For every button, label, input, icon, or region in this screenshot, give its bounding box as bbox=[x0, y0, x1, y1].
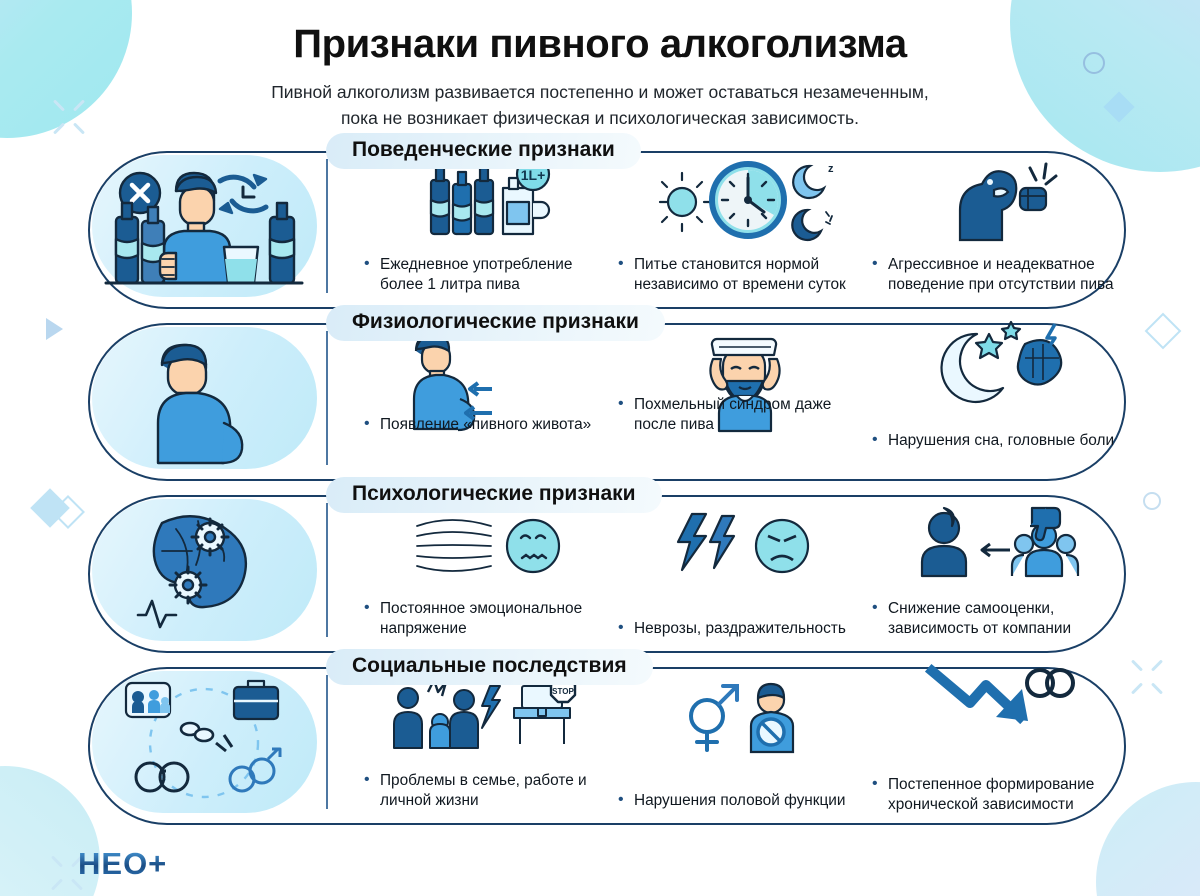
list-item-text: Питье становится нормой независимо от вр… bbox=[618, 255, 862, 294]
section-badge-psychological: Психологические признаки bbox=[326, 477, 662, 513]
list-item: z Питье становится нормой независимо от … bbox=[612, 151, 866, 303]
svg-text:z: z bbox=[828, 163, 834, 175]
moon-stars-brain-icon bbox=[872, 319, 1126, 403]
list-item-text: Нарушения половой функции bbox=[618, 791, 862, 811]
section-illustration-panel bbox=[92, 327, 317, 469]
section-badge-behavioral: Поведенческие признаки bbox=[326, 133, 641, 169]
section-items: Появление «пивного живота» bbox=[358, 323, 1120, 475]
subtitle-line-1: Пивной алкоголизм развивается постепенно… bbox=[0, 79, 1200, 105]
section-items: STOP Проблемы в семье, работе и личной ж… bbox=[358, 667, 1120, 819]
section-badge-physiological: Физиологические признаки bbox=[326, 305, 665, 341]
one-liter-badge-text: 1L+ bbox=[521, 167, 546, 183]
list-item: Неврозы, раздражительность bbox=[612, 495, 866, 647]
sun-clock-moon-icon: z bbox=[618, 157, 872, 241]
subtitle-line-2: пока не возникает физическая и психологи… bbox=[0, 105, 1200, 131]
list-item-text: Постоянное эмоциональное напряжение bbox=[364, 599, 608, 638]
sections-container: Поведенческие признаки bbox=[0, 143, 1200, 825]
list-item: Нарушения сна, головные боли bbox=[866, 323, 1120, 475]
list-item: Похмельный синдром даже после пива bbox=[612, 323, 866, 475]
brain-with-gears-icon bbox=[92, 499, 317, 641]
list-item-text: Агрессивное и неадекватное поведение при… bbox=[872, 255, 1116, 294]
section-divider bbox=[326, 331, 328, 465]
list-item-text: Постепенное формирование хронической зав… bbox=[872, 775, 1116, 814]
list-item: Появление «пивного живота» bbox=[358, 323, 612, 475]
lightning-angry-face-icon bbox=[618, 501, 872, 585]
list-item: Нарушения половой функции bbox=[612, 667, 866, 819]
list-item-text: Снижение самооценки, зависимость от комп… bbox=[872, 599, 1116, 638]
svg-text:STOP: STOP bbox=[552, 687, 574, 696]
family-conflict-work-stop-icon: STOP bbox=[364, 673, 618, 757]
list-item: STOP Проблемы в семье, работе и личной ж… bbox=[358, 667, 612, 819]
page-header: Признаки пивного алкоголизма Пивной алко… bbox=[0, 0, 1200, 132]
list-item: 1L+ Ежедневное употребление более 1 литр… bbox=[358, 151, 612, 303]
section-divider bbox=[326, 503, 328, 637]
three-bottles-and-1l-mug-icon: 1L+ bbox=[364, 157, 618, 241]
list-item-text: Появление «пивного живота» bbox=[364, 415, 608, 435]
section-illustration-panel bbox=[92, 671, 317, 813]
list-item: Постепенное формирование хронической зав… bbox=[866, 667, 1120, 819]
gender-symbols-blocked-man-icon bbox=[618, 673, 872, 757]
section-psychological: Психологические признаки Постоянное эмоц… bbox=[58, 487, 1142, 653]
section-divider bbox=[326, 675, 328, 809]
list-item-text: Похмельный синдром даже после пива bbox=[618, 395, 862, 434]
shouting-man-fist-icon bbox=[872, 157, 1126, 241]
tense-lines-worried-face-icon bbox=[364, 501, 618, 585]
section-social: Социальные последствия bbox=[58, 659, 1142, 825]
section-items: Постоянное эмоциональное напряжение bbox=[358, 495, 1120, 647]
page-subtitle: Пивной алкоголизм развивается постепенно… bbox=[0, 79, 1200, 132]
broken-chain-family-work-icon bbox=[92, 671, 317, 813]
list-item-text: Проблемы в семье, работе и личной жизни bbox=[364, 771, 608, 810]
list-item: Постоянное эмоциональное напряжение bbox=[358, 495, 612, 647]
page-title: Признаки пивного алкоголизма bbox=[0, 22, 1200, 66]
section-divider bbox=[326, 159, 328, 293]
list-item: Снижение самооценки, зависимость от комп… bbox=[866, 495, 1120, 647]
man-with-beer-bottles-icon bbox=[92, 155, 317, 297]
brand-logo: НЕО+ bbox=[78, 846, 167, 882]
list-item-text: Неврозы, раздражительность bbox=[618, 619, 862, 639]
section-items: 1L+ Ежедневное употребление более 1 литр… bbox=[358, 151, 1120, 303]
section-physiological: Физиологические признаки bbox=[58, 315, 1142, 481]
section-badge-social: Социальные последствия bbox=[326, 649, 653, 685]
list-item-text: Нарушения сна, головные боли bbox=[872, 431, 1116, 451]
section-illustration-panel bbox=[92, 499, 317, 641]
thumbs-down-group-icon bbox=[872, 501, 1126, 585]
down-arrow-handcuffs-icon bbox=[872, 661, 1126, 731]
list-item-text: Ежедневное употребление более 1 литра пи… bbox=[364, 255, 608, 294]
section-behavioral: Поведенческие признаки bbox=[58, 143, 1142, 309]
man-with-beer-belly-icon bbox=[92, 327, 317, 469]
list-item: Агрессивное и неадекватное поведение при… bbox=[866, 151, 1120, 303]
section-illustration-panel bbox=[92, 155, 317, 297]
